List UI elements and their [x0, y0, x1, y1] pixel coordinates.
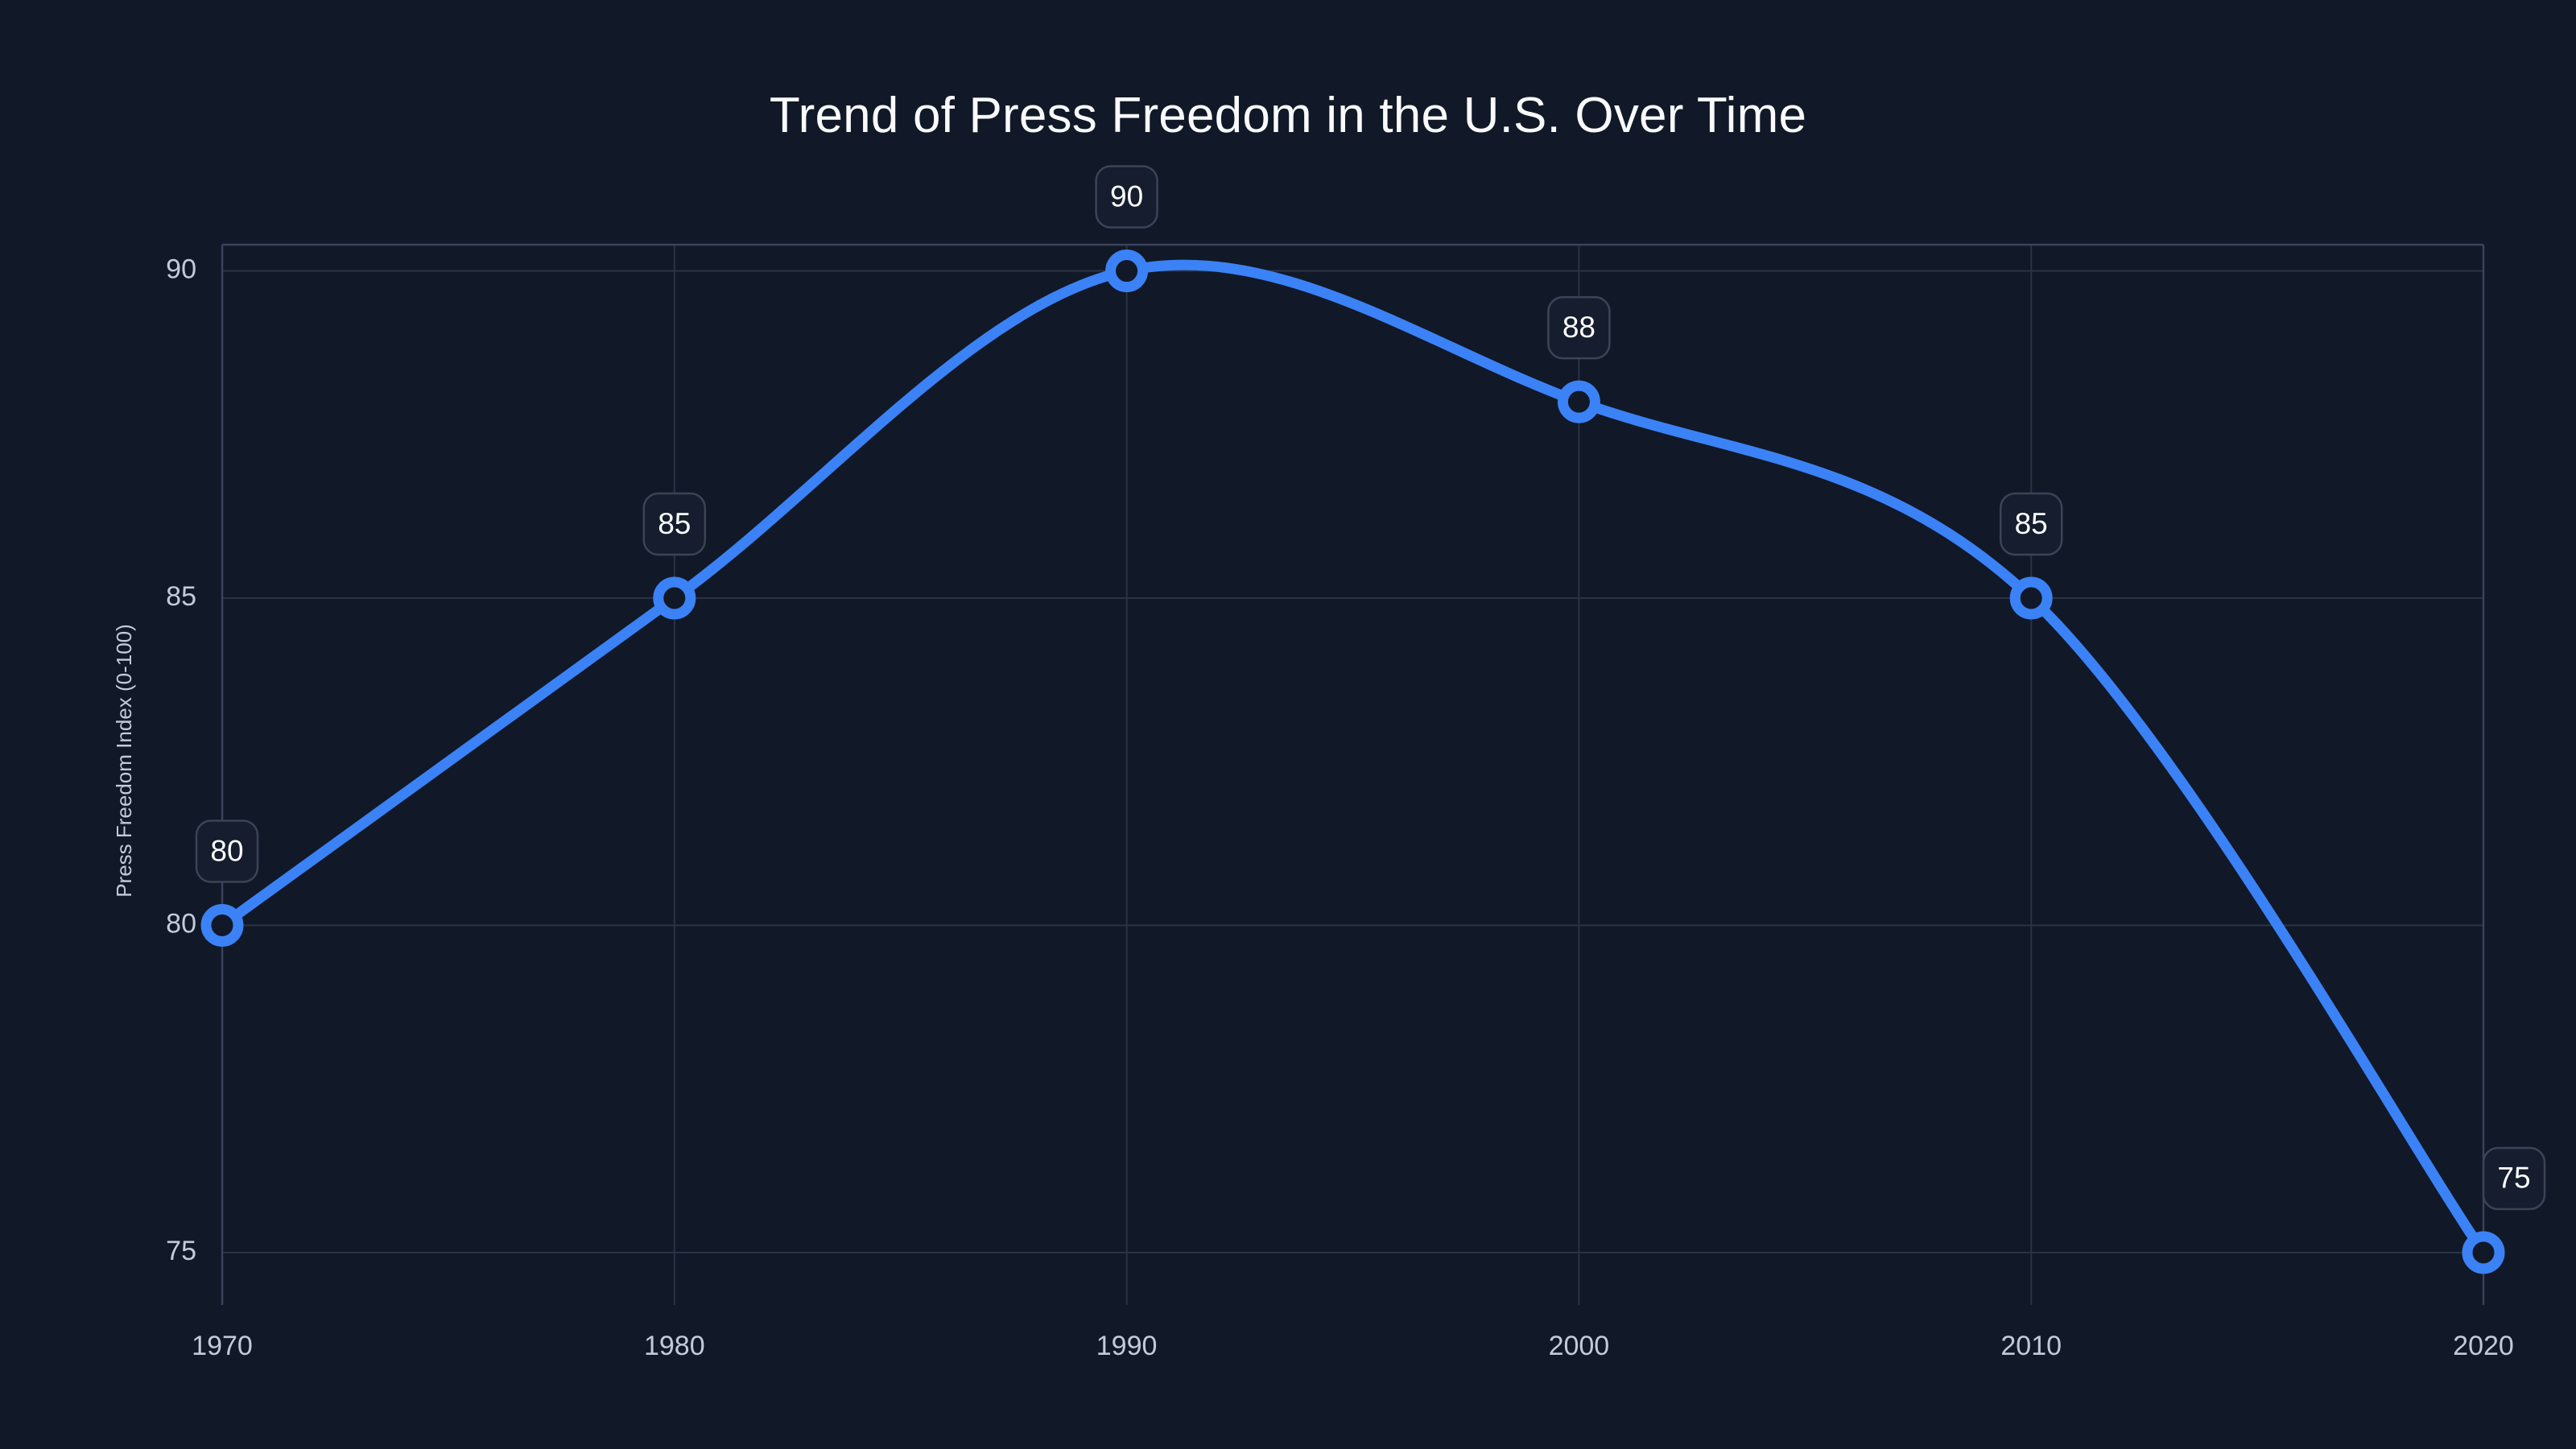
data-point-label-badge: 88	[1548, 297, 1609, 358]
data-point-marker[interactable]	[206, 909, 238, 941]
data-point-marker[interactable]	[2467, 1236, 2500, 1269]
label-badge-value: 88	[1563, 311, 1596, 344]
x-axis-tick-label: 2000	[1549, 1331, 1610, 1361]
y-axis-tick-label: 90	[166, 254, 196, 285]
y-axis-title: Press Freedom Index (0-100)	[112, 624, 136, 898]
label-badge-value: 85	[658, 507, 691, 540]
x-axis-tick-label: 2010	[2000, 1331, 2062, 1361]
y-axis-title-group: Press Freedom Index (0-100)	[112, 624, 136, 898]
gridlines	[222, 245, 2483, 1305]
series-line-press-freedom	[222, 265, 2483, 1253]
data-point-label-badge: 90	[1096, 167, 1158, 228]
y-axis-tick-label: 85	[166, 581, 196, 612]
x-axis-tick-labels: 197019801990200020102020	[192, 1331, 2514, 1361]
data-point-marker[interactable]	[658, 582, 691, 614]
label-badge-value: 90	[1110, 180, 1143, 213]
label-badge-value: 75	[2497, 1162, 2530, 1195]
line-chart-plot: Press Freedom Index (0-100) 75808590 197…	[0, 0, 2576, 1449]
data-point-label-badge: 85	[644, 493, 705, 555]
data-point-label-badge: 75	[2483, 1148, 2545, 1209]
axis-lines	[222, 245, 2483, 1305]
data-point-markers	[206, 255, 2500, 1269]
chart-container: Trend of Press Freedom in the U.S. Over …	[0, 0, 2576, 1449]
y-axis-tick-label: 75	[166, 1236, 196, 1266]
data-series	[222, 265, 2483, 1253]
x-axis-tick-label: 1970	[192, 1331, 253, 1361]
x-axis-tick-label: 1980	[644, 1331, 705, 1361]
data-point-marker[interactable]	[1563, 386, 1595, 418]
data-point-marker[interactable]	[1111, 255, 1143, 287]
x-axis-tick-label: 2020	[2453, 1331, 2514, 1361]
x-axis-tick-label: 1990	[1096, 1331, 1158, 1361]
data-point-marker[interactable]	[2015, 582, 2047, 614]
data-point-label-badge: 85	[2000, 493, 2062, 555]
label-badge-value: 85	[2015, 507, 2048, 540]
label-badge-value: 80	[210, 834, 243, 867]
y-axis-tick-label: 80	[166, 908, 196, 939]
data-point-label-badge: 80	[196, 820, 258, 881]
y-axis-tick-labels: 75808590	[166, 254, 196, 1266]
